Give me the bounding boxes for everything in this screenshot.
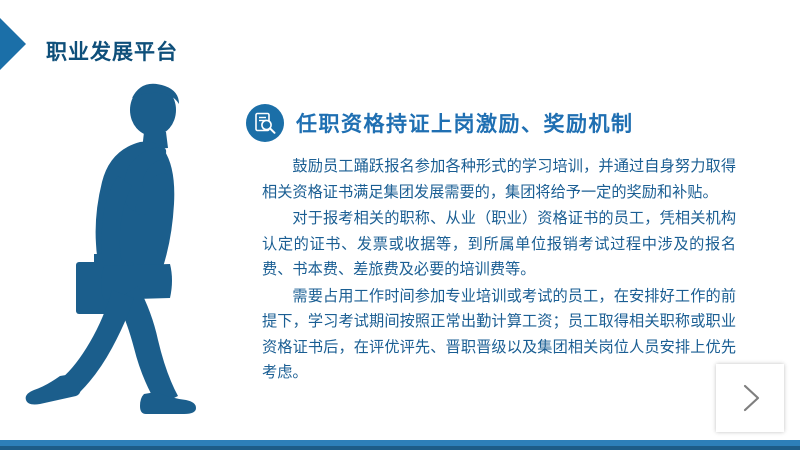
- body-text: 鼓励员工踊跃报名参加各种形式的学习培训，并通过自身努力取得相关资格证书满足集团发…: [262, 154, 736, 387]
- certificate-search-icon: [246, 104, 284, 142]
- section-heading-label: 任职资格持证上岗激励、奖励机制: [296, 108, 634, 138]
- paragraph: 对于报考相关的职称、从业（职业）资格证书的员工，凭相关机构认定的证书、发票或收据…: [262, 206, 736, 283]
- paragraph: 需要占用工作时间参加专业培训或考试的员工，在安排好工作的前提下，学习考试期间按照…: [262, 284, 736, 386]
- chevron-right-decor-icon: [0, 18, 40, 70]
- page-title: 职业发展平台: [46, 36, 178, 66]
- walking-businessman-silhouette: [20, 80, 240, 425]
- section-heading: 任职资格持证上岗激励、奖励机制: [246, 104, 634, 142]
- bottom-accent-bar-dark: [0, 446, 800, 450]
- chevron-right-icon: [733, 381, 767, 415]
- next-slide-button[interactable]: [716, 364, 784, 432]
- slide: 职业发展平台: [0, 0, 800, 450]
- paragraph: 鼓励员工踊跃报名参加各种形式的学习培训，并通过自身努力取得相关资格证书满足集团发…: [262, 154, 736, 205]
